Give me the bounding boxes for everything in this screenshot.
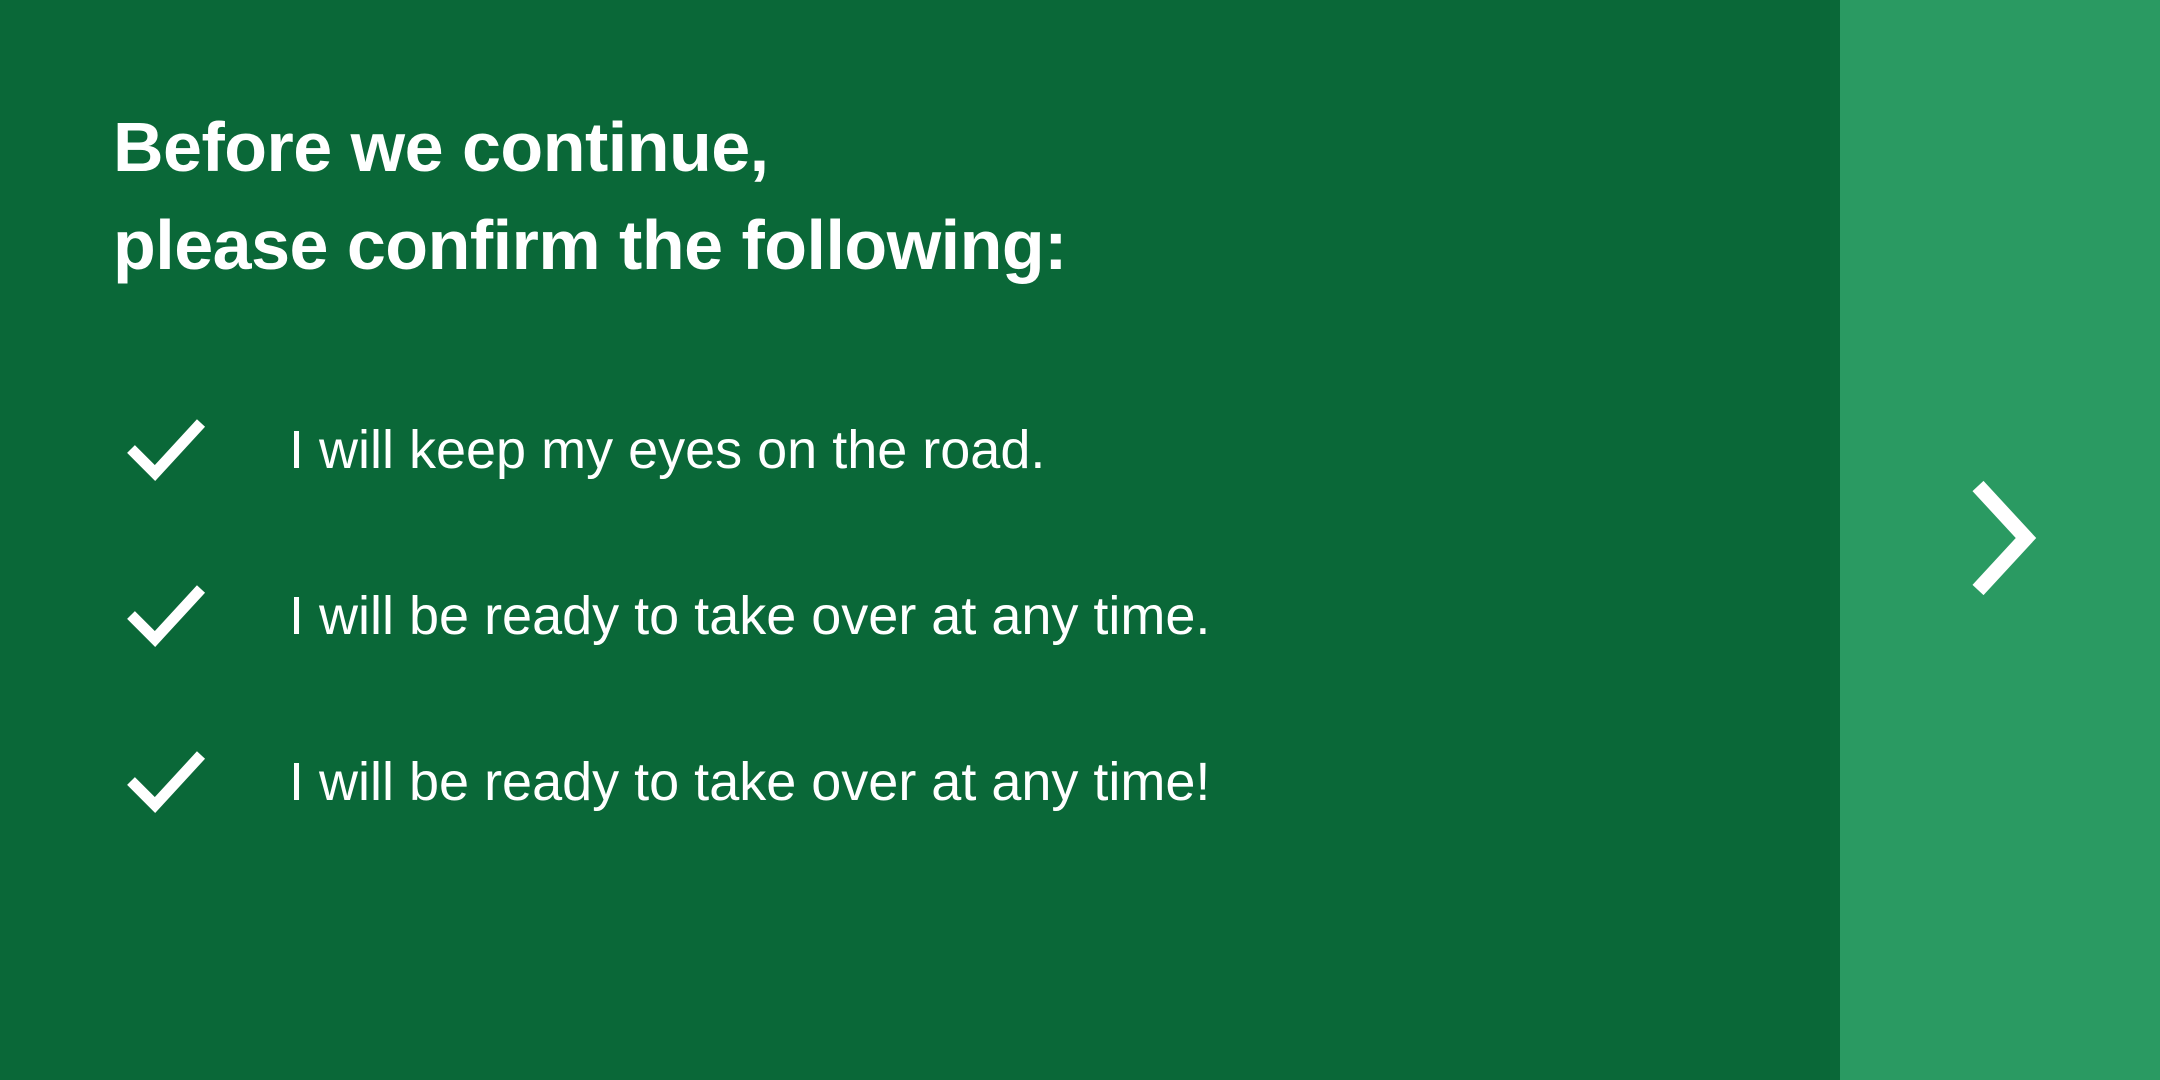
checklist-item[interactable]: I will keep my eyes on the road. — [0, 395, 1840, 505]
content-panel: Before we continue, please confirm the f… — [0, 0, 1840, 1080]
next-button[interactable] — [1840, 0, 2160, 1080]
page-title: Before we continue, please confirm the f… — [113, 98, 1067, 294]
confirmation-screen: Before we continue, please confirm the f… — [0, 0, 2160, 1080]
checklist-item[interactable]: I will be ready to take over at any time… — [0, 561, 1840, 671]
checklist-item-label: I will be ready to take over at any time… — [289, 583, 1210, 649]
checkmark-icon — [125, 575, 207, 657]
checklist-item-label: I will be ready to take over at any time… — [289, 749, 1210, 815]
checklist-item[interactable]: I will be ready to take over at any time… — [0, 727, 1840, 837]
checkmark-icon — [125, 409, 207, 491]
chevron-right-icon[interactable] — [1960, 478, 2040, 598]
confirmation-checklist: I will keep my eyes on the road. I will … — [0, 395, 1840, 837]
checklist-item-label: I will keep my eyes on the road. — [289, 417, 1045, 483]
checkmark-icon — [125, 741, 207, 823]
